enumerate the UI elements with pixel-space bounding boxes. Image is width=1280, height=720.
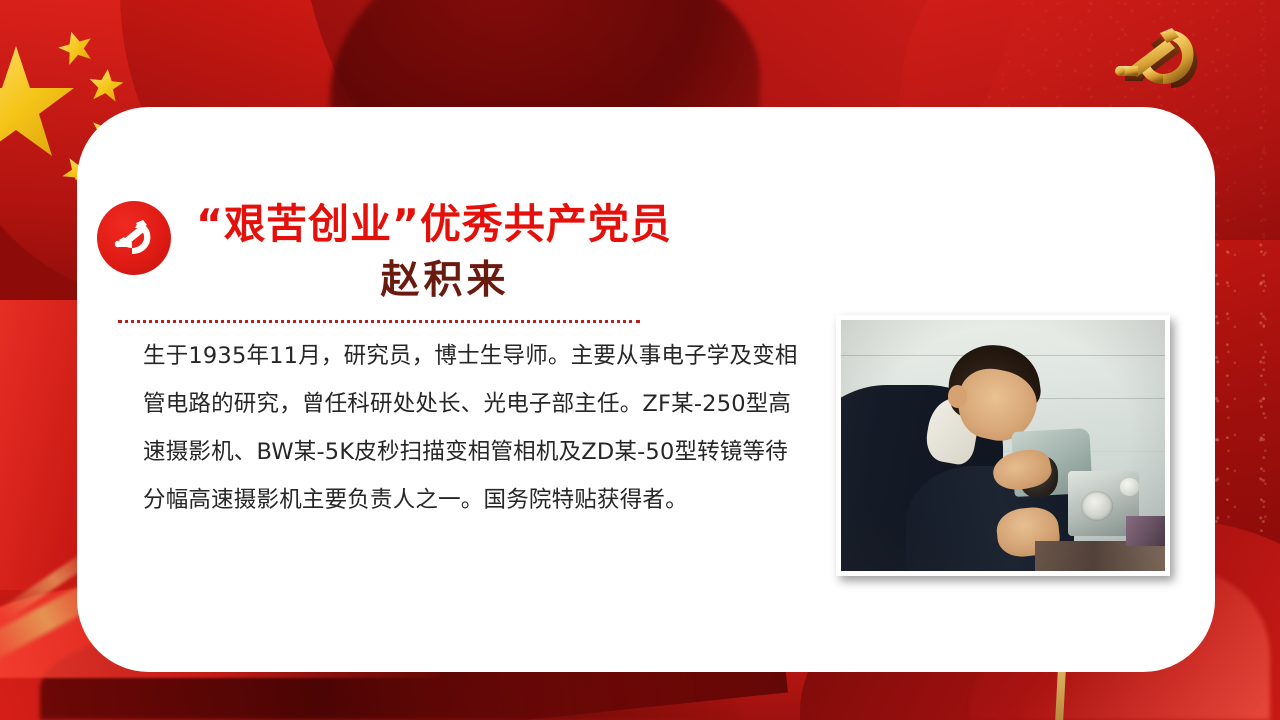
photo-vignette [841, 320, 1165, 571]
dotted-divider [118, 320, 640, 323]
biography-paragraph: 生于1935年11月，研究员，博士生导师。主要从事电子学及变相管电路的研究，曾任… [143, 332, 803, 524]
page-title-line-2: 赵积来 [196, 256, 816, 304]
biography-text: 生于1935年11月，研究员，博士生导师。主要从事电子学及变相管电路的研究，曾任… [143, 332, 803, 524]
hammer-sickle-emblem-icon [1108, 26, 1220, 104]
title-block: “艰苦创业”优秀共产党员 赵积来 [196, 198, 816, 304]
party-badge [97, 201, 171, 275]
page-title-line-1: “艰苦创业”优秀共产党员 [196, 198, 816, 250]
portrait-photo [841, 320, 1165, 571]
portrait-photo-frame [836, 315, 1170, 576]
hammer-sickle-glyph-icon [112, 216, 156, 260]
slide-root: “艰苦创业”优秀共产党员 赵积来 生于1935年11月，研究员，博士生导师。主要… [0, 0, 1280, 720]
